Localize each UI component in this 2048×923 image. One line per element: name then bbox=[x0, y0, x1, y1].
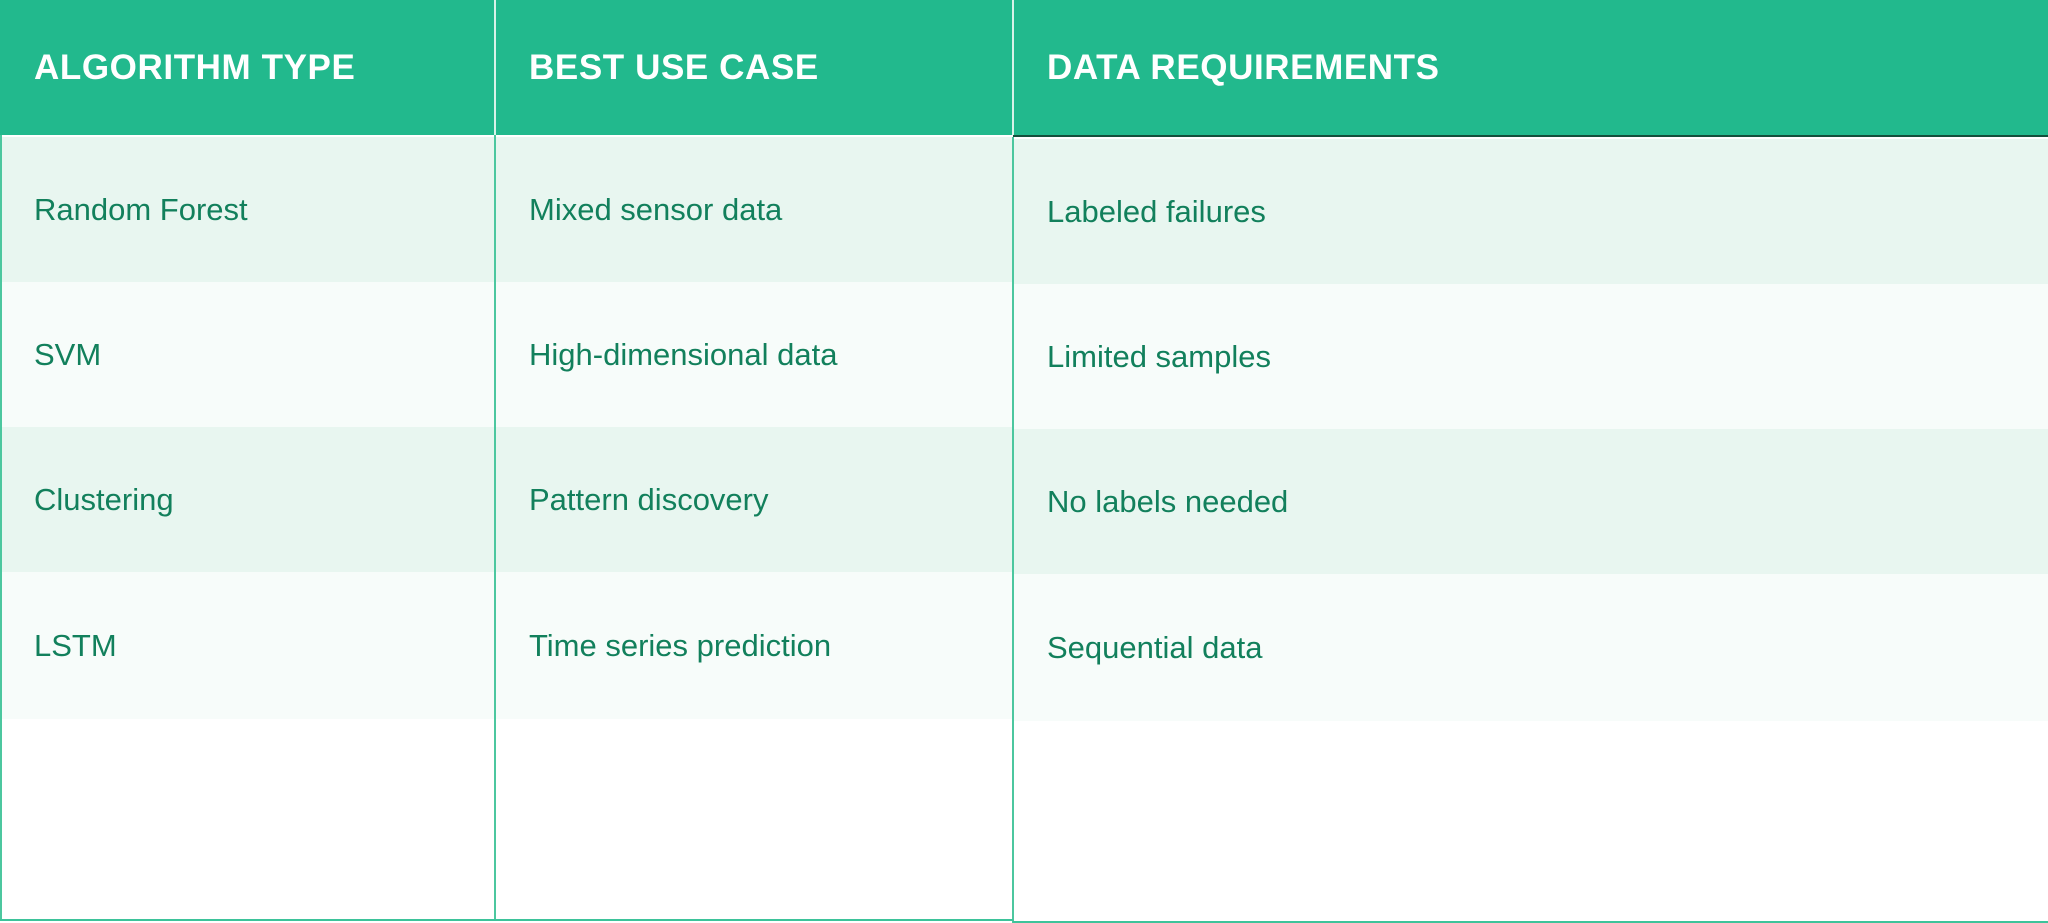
table-row[interactable]: Random Forest bbox=[0, 137, 495, 282]
column-divider-1 bbox=[494, 135, 496, 921]
column-header-label: DATA REQUIREMENTS bbox=[1047, 48, 1440, 88]
table-bottom-border-left bbox=[0, 919, 1013, 921]
cell-data-requirements: No labels needed bbox=[1047, 484, 1288, 520]
table-row[interactable]: Mixed sensor data bbox=[495, 137, 1013, 282]
header-divider-2 bbox=[1012, 0, 1014, 135]
cell-data-requirements: Sequential data bbox=[1047, 630, 1262, 666]
column-header-label: BEST USE CASE bbox=[529, 48, 819, 88]
table-row[interactable]: Time series prediction bbox=[495, 572, 1013, 719]
cell-algorithm-type: Random Forest bbox=[34, 192, 248, 228]
table-row[interactable]: LSTM bbox=[0, 572, 495, 719]
header-divider-1 bbox=[494, 0, 496, 135]
table-row[interactable]: No labels needed bbox=[1013, 429, 2048, 574]
cell-best-use-case: Mixed sensor data bbox=[529, 192, 782, 228]
table-row[interactable]: Labeled failures bbox=[1013, 139, 2048, 284]
cell-algorithm-type: Clustering bbox=[34, 482, 174, 518]
column-header-label: ALGORITHM TYPE bbox=[34, 48, 355, 88]
table-row[interactable]: Pattern discovery bbox=[495, 427, 1013, 572]
cell-best-use-case: Pattern discovery bbox=[529, 482, 769, 518]
column-header-data-requirements[interactable]: DATA REQUIREMENTS bbox=[1013, 0, 2048, 135]
comparison-table: ALGORITHM TYPE BEST USE CASE DATA REQUIR… bbox=[0, 0, 2048, 923]
cell-algorithm-type: LSTM bbox=[34, 628, 117, 664]
table-row[interactable]: Sequential data bbox=[1013, 574, 2048, 721]
table-row[interactable]: Limited samples bbox=[1013, 284, 2048, 429]
table-row[interactable]: Clustering bbox=[0, 427, 495, 572]
column-header-algorithm-type[interactable]: ALGORITHM TYPE bbox=[0, 0, 495, 135]
table-left-border bbox=[0, 135, 2, 921]
cell-data-requirements: Labeled failures bbox=[1047, 194, 1266, 230]
cell-data-requirements: Limited samples bbox=[1047, 339, 1271, 375]
column-header-best-use-case[interactable]: BEST USE CASE bbox=[495, 0, 1013, 135]
table-row[interactable]: High-dimensional data bbox=[495, 282, 1013, 427]
column-3-top-border bbox=[1013, 135, 2048, 137]
cell-best-use-case: High-dimensional data bbox=[529, 337, 837, 373]
table-row[interactable]: SVM bbox=[0, 282, 495, 427]
column-divider-2 bbox=[1012, 137, 1014, 923]
cell-algorithm-type: SVM bbox=[34, 337, 101, 373]
cell-best-use-case: Time series prediction bbox=[529, 628, 831, 664]
